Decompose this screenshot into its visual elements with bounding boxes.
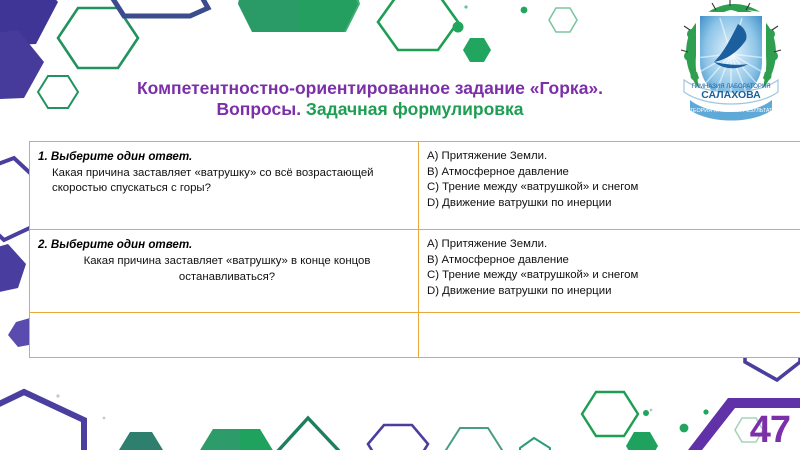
- hexagon-purple-filled: [0, 0, 58, 46]
- hexagon-green-filled-small: [463, 38, 491, 62]
- hexagon-green-outline: [446, 428, 502, 450]
- dot-green: [643, 410, 649, 416]
- question-cell-3-empty: [30, 312, 419, 357]
- answers-cell-2: A) Притяжение Земли. B) Атмосферное давл…: [419, 230, 800, 312]
- hexagon-green-filled-small: [626, 432, 658, 450]
- title-line-2: Вопросы. Задачная формулировка: [60, 99, 680, 120]
- answer-option: D) Движение ватрушки по инерции: [427, 284, 795, 300]
- hexagon-green-outline: [582, 392, 638, 436]
- question-cell-2: 2. Выберите один ответ. Какая причина за…: [30, 230, 419, 312]
- questions-table: 1. Выберите один ответ. Какая причина за…: [29, 141, 800, 358]
- hexagon-green-outline: [277, 418, 340, 450]
- hexagon-green-filled: [238, 0, 358, 32]
- hexagon-green-outline: [58, 8, 138, 68]
- dot-green: [464, 5, 467, 8]
- dot-gray: [103, 417, 106, 420]
- hexagon-green-filled: [199, 429, 240, 450]
- answer-option: A) Притяжение Земли.: [427, 237, 795, 253]
- question-head-2: 2. Выберите один ответ.: [38, 237, 410, 253]
- dot-green: [521, 7, 528, 14]
- dot-gray: [56, 394, 59, 397]
- question-head-1: 1. Выберите один ответ.: [38, 149, 410, 165]
- title-line-2-highlight: Задачная формулировка: [306, 99, 524, 119]
- title-line-2-prefix: Вопросы.: [216, 99, 305, 119]
- answer-option: B) Атмосферное давление: [427, 165, 795, 181]
- question-body-1: Какая причина заставляет «ватрушку» со в…: [38, 166, 410, 197]
- title-line-1: Компетентностно-ориентированное задание …: [60, 78, 680, 99]
- hexagon-green-filled: [300, 0, 360, 32]
- answers-cell-1: A) Притяжение Земли. B) Атмосферное давл…: [419, 142, 800, 230]
- hexagon-green-outline: [520, 438, 550, 450]
- dot-green: [453, 22, 464, 33]
- table-row: 2. Выберите один ответ. Какая причина за…: [30, 230, 800, 312]
- hexagon-green-filled-small: [119, 432, 163, 450]
- hexagon-navy-outline: [106, 0, 208, 16]
- answer-option: C) Трение между «ватрушкой» и снегом: [427, 268, 795, 284]
- hexagon-green-outline: [378, 0, 458, 50]
- answers-cell-3-empty: [419, 312, 800, 357]
- page-title: Компетентностно-ориентированное задание …: [60, 78, 680, 121]
- slide-canvas: ГИМНАЗИЯ ЛАБОРАТОРИЯ САЛАХОВА ТЕОРИЯ ПРА…: [0, 0, 800, 450]
- logo-main-text: САЛАХОВА: [701, 89, 761, 101]
- hexagon-purple-filled: [0, 30, 44, 100]
- logo-ribbon-text: ТЕОРИЯ ПРАКТИКА РЕЗУЛЬТАТ: [690, 108, 774, 114]
- hexagon-purple-filled: [0, 244, 26, 294]
- question-cell-1: 1. Выберите один ответ. Какая причина за…: [30, 142, 419, 230]
- dot-green: [680, 424, 689, 433]
- hexagon-green-outline-small: [549, 8, 577, 32]
- table-row: 1. Выберите один ответ. Какая причина за…: [30, 142, 800, 230]
- answer-option: B) Атмосферное давление: [427, 253, 795, 269]
- answer-option: A) Притяжение Земли.: [427, 149, 795, 165]
- dot-gray: [650, 409, 653, 412]
- answer-option: C) Трение между «ватрушкой» и снегом: [427, 180, 795, 196]
- question-body-2: Какая причина заставляет «ватрушку» в ко…: [38, 254, 410, 285]
- page-number: 47: [750, 411, 790, 449]
- hexagon-purple-outline: [368, 425, 428, 450]
- answer-option: D) Движение ватрушки по инерции: [427, 196, 795, 212]
- hexagon-green-filled: [199, 429, 274, 450]
- hexagon-purple-outline: [0, 392, 84, 450]
- table-row-empty: [30, 312, 800, 357]
- school-logo: ГИМНАЗИЯ ЛАБОРАТОРИЯ САЛАХОВА ТЕОРИЯ ПРА…: [668, 0, 794, 126]
- dot-green: [703, 409, 708, 414]
